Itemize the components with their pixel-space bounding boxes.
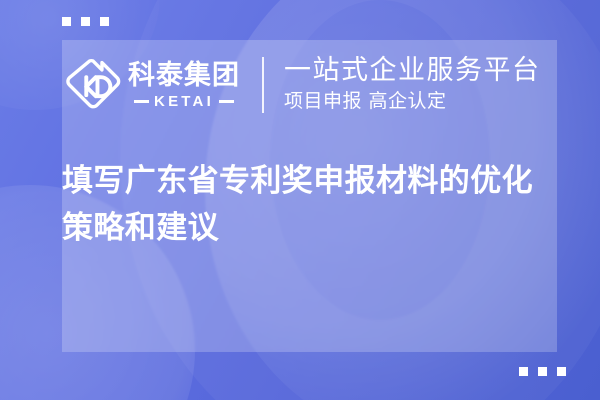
square-dot-icon [519,367,528,376]
logo-wordmark: 科泰集团 KETAI [128,62,240,109]
slogan-sub: 项目申报 高企认定 [284,89,541,114]
logo-company-name-en-row: KETAI [134,94,234,109]
dots-top-left [62,17,109,26]
square-dot-icon [557,367,566,376]
logo-rule-left-icon [134,100,149,103]
ketai-logo[interactable]: 科泰集团 KETAI [65,57,240,113]
square-dot-icon [100,17,109,26]
header-divider [262,57,264,113]
logo-rule-right-icon [219,100,234,103]
logo-company-name-en: KETAI [154,94,214,109]
dots-bottom-right [519,367,566,376]
brand-header: 科泰集团 KETAI 一站式企业服务平台 项目申报 高企认定 [62,46,557,124]
slogan-main: 一站式企业服务平台 [284,56,541,86]
page-title: 填写广东省专利奖申报材料的优化策略和建议 [62,158,554,251]
square-dot-icon [81,17,90,26]
square-dot-icon [62,17,71,26]
square-dot-icon [538,367,547,376]
promo-banner: 科泰集团 KETAI 一站式企业服务平台 项目申报 高企认定 填写广东省专利奖申… [0,0,600,400]
slogan-group: 一站式企业服务平台 项目申报 高企认定 [284,56,541,114]
logo-company-name-cn: 科泰集团 [128,62,240,89]
ketai-diamond-kd-logo-icon [65,57,121,113]
content-card: 科泰集团 KETAI 一站式企业服务平台 项目申报 高企认定 填写广东省专利奖申… [62,40,557,352]
